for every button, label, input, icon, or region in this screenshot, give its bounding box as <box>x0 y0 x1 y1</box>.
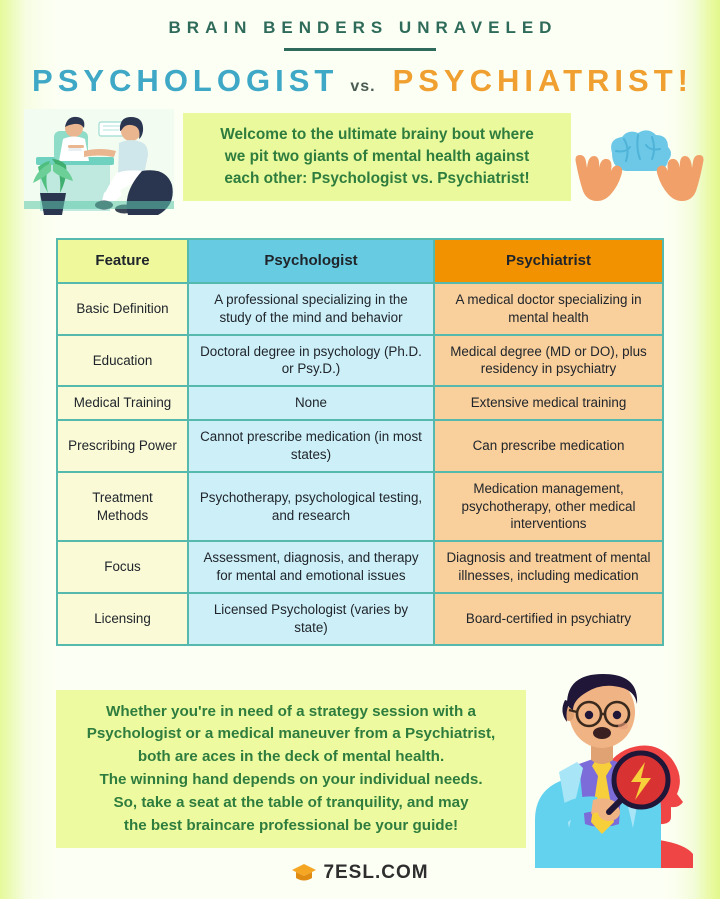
intro-text: Welcome to the ultimate brainy bout wher… <box>220 124 534 191</box>
comparison-table: Feature Psychologist Psychiatrist Basic … <box>56 238 664 646</box>
table-row: Basic Definition A professional speciali… <box>58 284 662 336</box>
table-row: Prescribing Power Cannot prescribe medic… <box>58 421 662 473</box>
title-psychiatrist: PSYCHIATRIST! <box>388 63 693 99</box>
outro-text: Whether you're in need of a strategy ses… <box>87 701 496 838</box>
table-row: Education Doctoral degree in psychology … <box>58 336 662 388</box>
cell-psychiatrist: Medical degree (MD or DO), plus residenc… <box>435 336 662 386</box>
column-header-psychologist: Psychologist <box>189 240 435 282</box>
table-header-row: Feature Psychologist Psychiatrist <box>58 240 662 284</box>
cell-feature: Treatment Methods <box>58 473 189 540</box>
cell-psychiatrist: Medication management, psychotherapy, ot… <box>435 473 662 540</box>
intro-box: Welcome to the ultimate brainy bout wher… <box>183 113 571 201</box>
title-vs: vs. <box>350 78 375 96</box>
cell-feature: Focus <box>58 542 189 592</box>
table-row: Licensing Licensed Psychologist (varies … <box>58 594 662 644</box>
cell-feature: Licensing <box>58 594 189 644</box>
logo-text: 7ESL.COM <box>323 862 428 884</box>
infographic-page: BRAIN BENDERS UNRAVELED PSYCHOLOGIST vs.… <box>0 0 720 899</box>
eyebrow-divider <box>284 48 436 51</box>
brain-in-hands-icon <box>572 123 707 209</box>
graduation-cap-icon <box>291 862 317 884</box>
intro-row: Welcome to the ultimate brainy bout wher… <box>0 105 720 217</box>
table-row: Treatment Methods Psychotherapy, psychol… <box>58 473 662 542</box>
cell-psychologist: Cannot prescribe medication (in most sta… <box>189 421 435 471</box>
cell-psychiatrist: A medical doctor specializing in mental … <box>435 284 662 334</box>
brain-shape <box>611 130 671 171</box>
table-row: Focus Assessment, diagnosis, and therapy… <box>58 542 662 594</box>
cell-psychiatrist: Can prescribe medication <box>435 421 662 471</box>
cell-feature: Education <box>58 336 189 386</box>
cell-feature: Prescribing Power <box>58 421 189 471</box>
cell-psychologist: Licensed Psychologist (varies by state) <box>189 594 435 644</box>
cell-psychiatrist: Diagnosis and treatment of mental illnes… <box>435 542 662 592</box>
cell-psychiatrist: Board-certified in psychiatry <box>435 594 662 644</box>
footer: 7ESL.COM <box>0 862 720 884</box>
eyebrow-text: BRAIN BENDERS UNRAVELED <box>0 0 720 38</box>
doctor-with-magnifier-illustration <box>505 672 717 868</box>
cell-psychologist: A professional specializing in the study… <box>189 284 435 334</box>
cell-psychologist: None <box>189 387 435 419</box>
column-header-psychiatrist: Psychiatrist <box>435 240 662 282</box>
column-header-feature: Feature <box>58 240 189 282</box>
cell-psychiatrist: Extensive medical training <box>435 387 662 419</box>
cell-feature: Basic Definition <box>58 284 189 334</box>
cell-psychologist: Doctoral degree in psychology (Ph.D. or … <box>189 336 435 386</box>
cell-feature: Medical Training <box>58 387 189 419</box>
header-block: BRAIN BENDERS UNRAVELED PSYCHOLOGIST vs.… <box>0 0 720 99</box>
doctor-head <box>562 674 637 748</box>
table-row: Medical Training None Extensive medical … <box>58 387 662 421</box>
therapy-session-illustration <box>18 105 183 217</box>
magnifier-icon <box>609 753 668 812</box>
page-title: PSYCHOLOGIST vs. PSYCHIATRIST! <box>0 63 720 99</box>
cell-psychologist: Psychotherapy, psychological testing, an… <box>189 473 435 540</box>
cell-psychologist: Assessment, diagnosis, and therapy for m… <box>189 542 435 592</box>
title-psychologist: PSYCHOLOGIST <box>27 63 338 99</box>
outro-box: Whether you're in need of a strategy ses… <box>56 690 526 848</box>
